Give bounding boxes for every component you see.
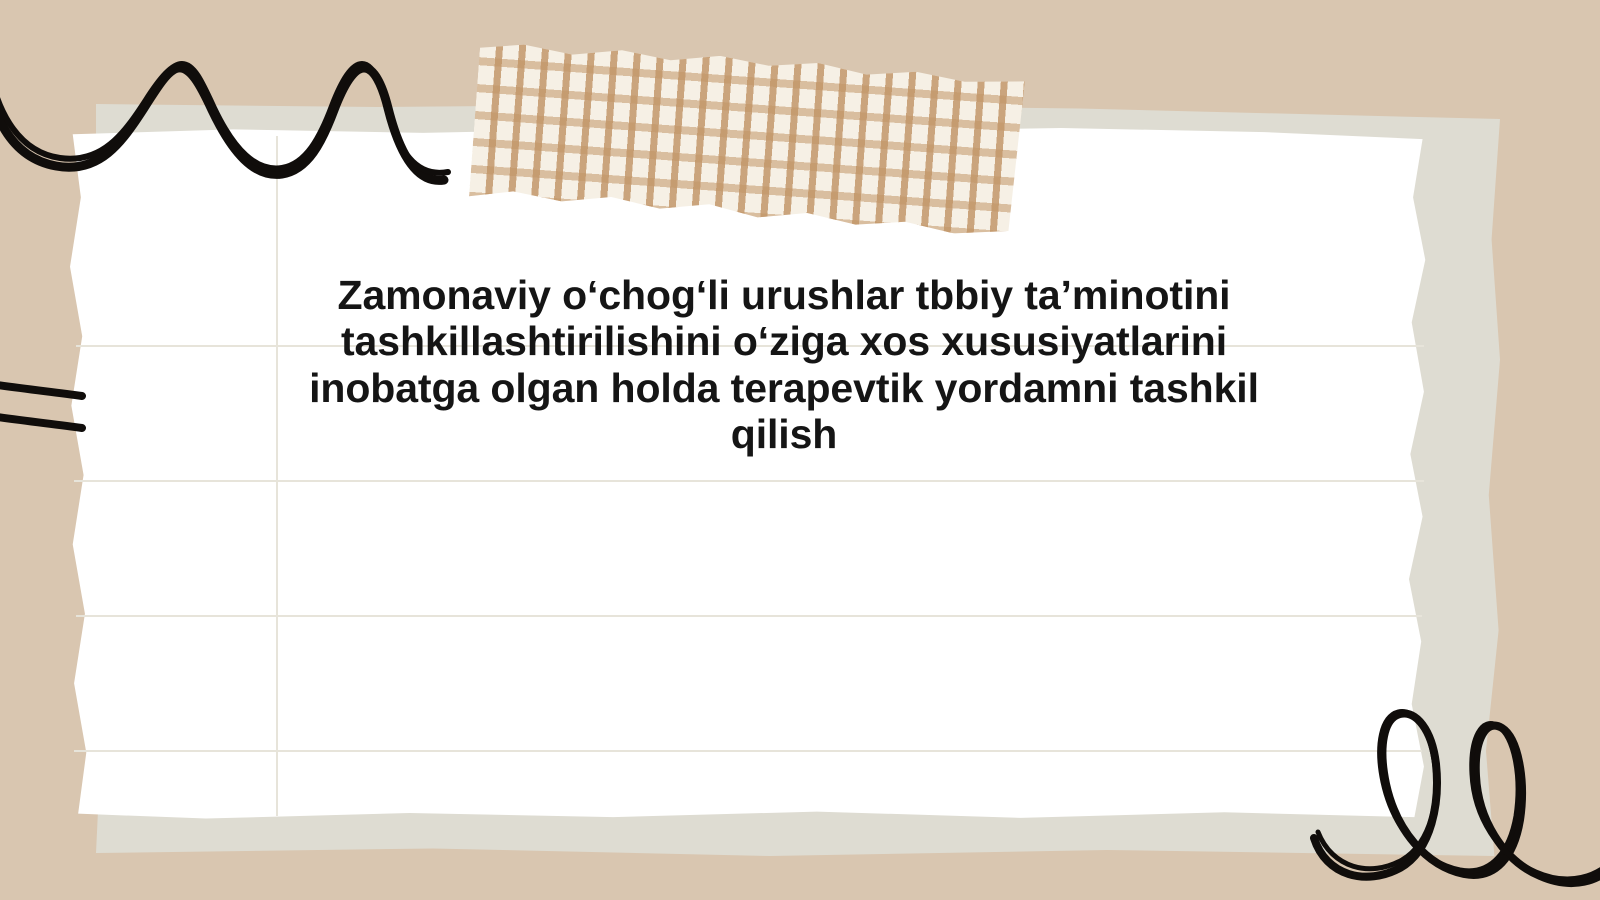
margin-rule-line (276, 136, 278, 816)
slide-canvas: Zamonaviy o‘chog‘li urushlar tbbiy ta’mi… (0, 0, 1600, 900)
note-paper (70, 128, 1428, 822)
page-title: Zamonaviy o‘chog‘li urushlar tbbiy ta’mi… (290, 272, 1278, 457)
